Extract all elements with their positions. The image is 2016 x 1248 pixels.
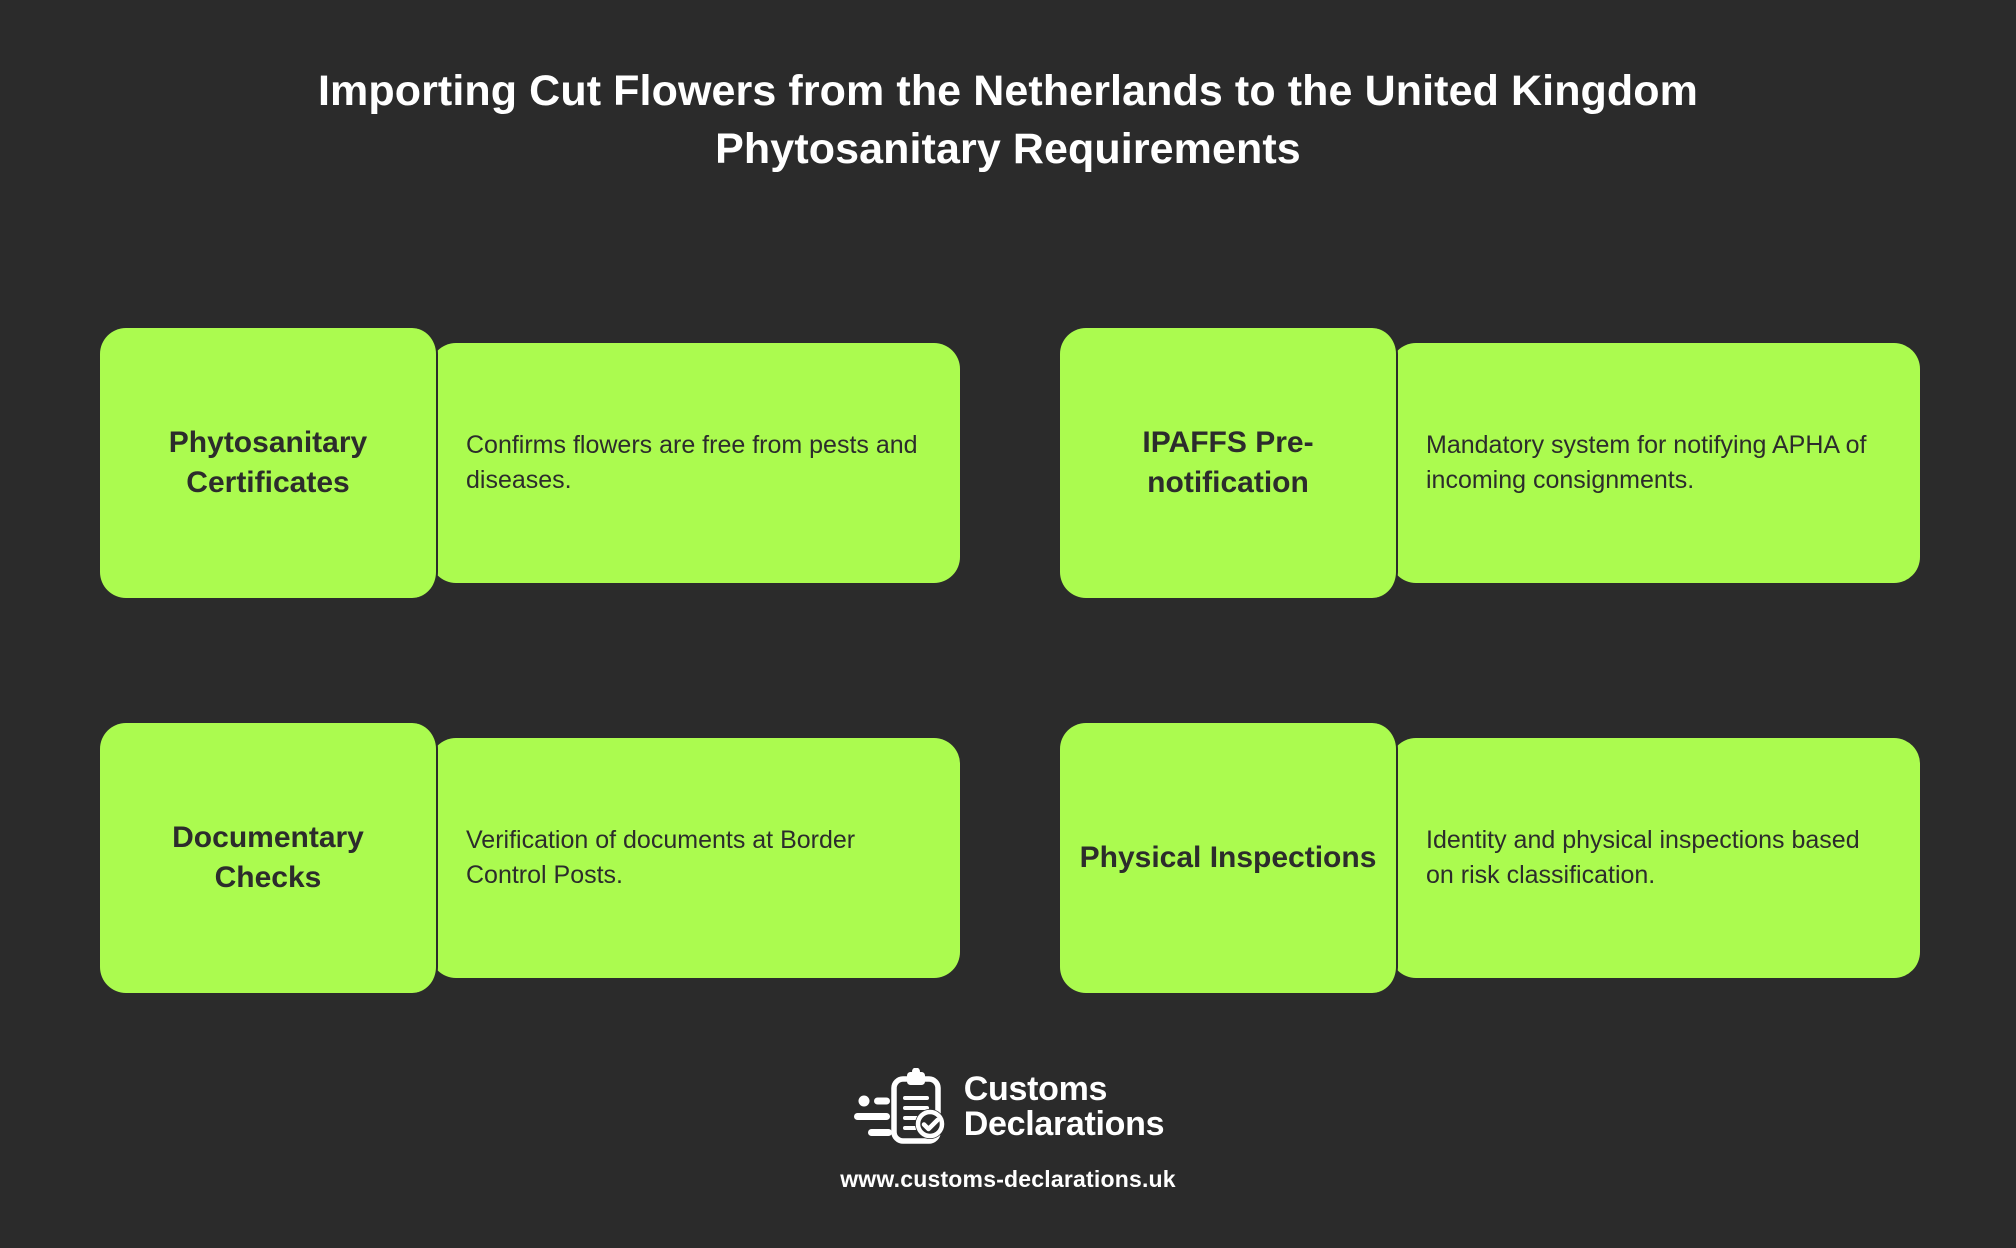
card-description-panel: Identity and physical inspections based … [1390,738,1920,978]
card-grid: Confirms flowers are free from pests and… [100,328,1920,993]
footer: Customs Declarations www.customs-declara… [0,1068,2016,1193]
card-phytosanitary-certificates: Confirms flowers are free from pests and… [100,328,960,598]
brand-line-1: Customs [964,1072,1164,1107]
card-description-text: Confirms flowers are free from pests and… [466,428,926,499]
card-label-panel: IPAFFS Pre-notification [1060,328,1398,598]
brand-line-2: Declarations [964,1107,1164,1142]
title-line-1: Importing Cut Flowers from the Netherlan… [0,62,2016,120]
footer-url: www.customs-declarations.uk [840,1166,1176,1193]
card-description-panel: Confirms flowers are free from pests and… [430,343,960,583]
card-label-panel: Documentary Checks [100,723,438,993]
card-description-text: Verification of documents at Border Cont… [466,823,926,894]
card-label-text: Phytosanitary Certificates [118,423,418,502]
page-title: Importing Cut Flowers from the Netherlan… [0,62,2016,178]
card-label-text: Physical Inspections [1080,838,1377,878]
card-label-text: IPAFFS Pre-notification [1078,423,1378,502]
card-description-text: Mandatory system for notifying APHA of i… [1426,428,1886,499]
card-label-text: Documentary Checks [118,818,418,897]
title-line-2: Phytosanitary Requirements [0,120,2016,178]
card-ipaffs-pre-notification: Mandatory system for notifying APHA of i… [1060,328,1920,598]
card-label-panel: Phytosanitary Certificates [100,328,438,598]
card-description-panel: Mandatory system for notifying APHA of i… [1390,343,1920,583]
card-label-panel: Physical Inspections [1060,723,1398,993]
card-physical-inspections: Identity and physical inspections based … [1060,723,1920,993]
card-description-panel: Verification of documents at Border Cont… [430,738,960,978]
card-description-text: Identity and physical inspections based … [1426,823,1886,894]
infographic-page: Importing Cut Flowers from the Netherlan… [0,0,2016,1248]
card-documentary-checks: Verification of documents at Border Cont… [100,723,960,993]
clipboard-check-icon [852,1068,948,1146]
brand-text: Customs Declarations [964,1072,1164,1141]
brand-lockup: Customs Declarations [852,1068,1164,1146]
